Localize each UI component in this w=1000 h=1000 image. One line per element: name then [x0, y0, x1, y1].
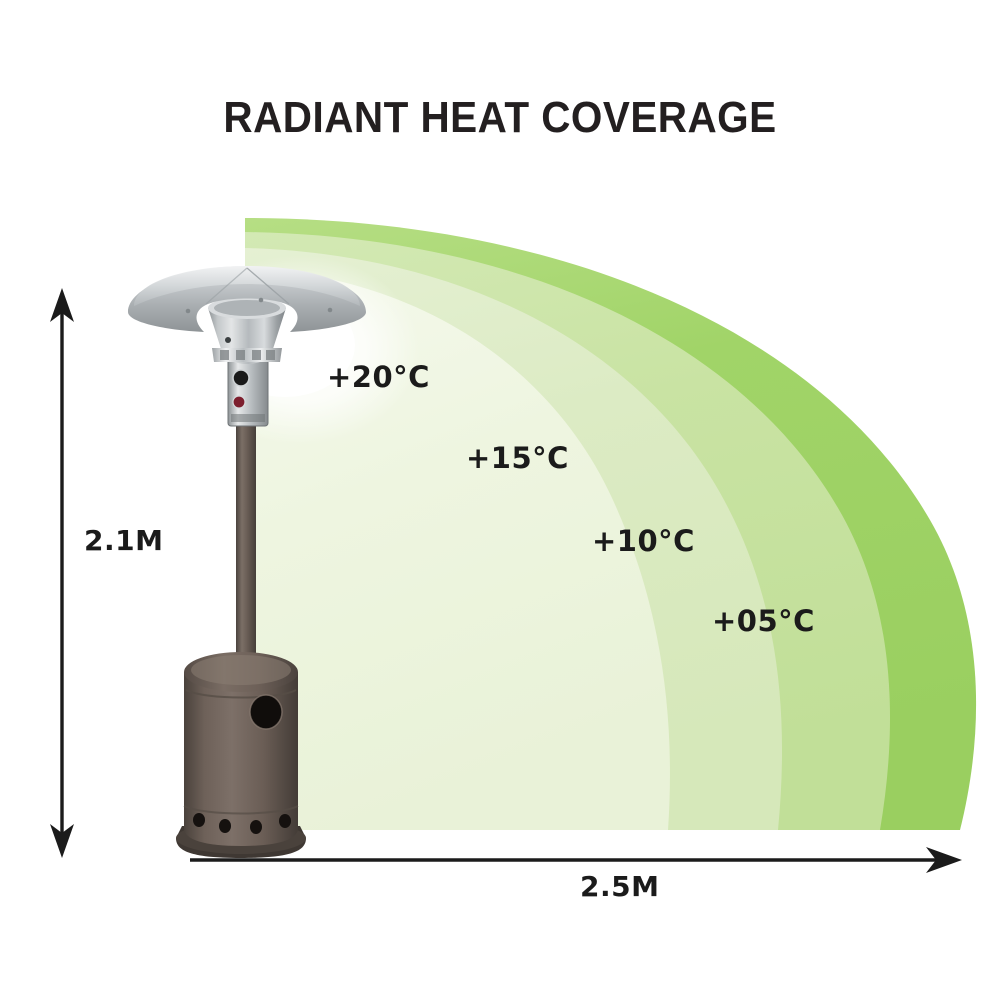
height-arrow	[50, 288, 74, 858]
width-arrow	[190, 847, 962, 873]
width-dimension-label: 2.5M	[580, 870, 659, 903]
dimension-arrows	[0, 0, 1000, 1000]
infographic-canvas: RADIANT HEAT COVERAGE	[0, 0, 1000, 1000]
height-dimension-label: 2.1M	[84, 524, 163, 557]
